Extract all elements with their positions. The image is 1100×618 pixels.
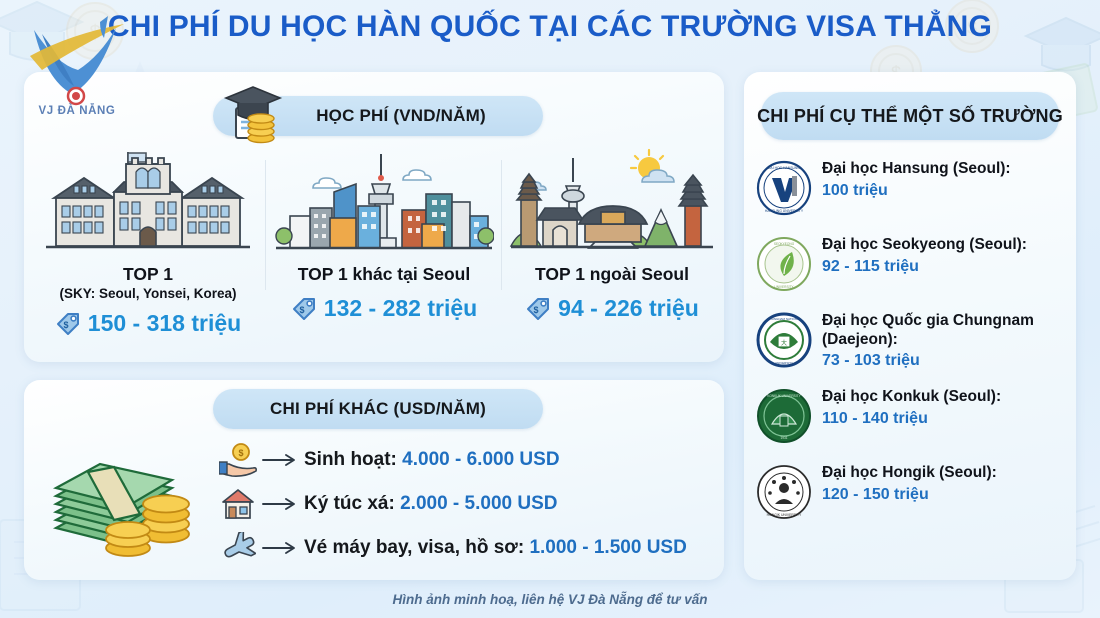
svg-text:ĐẠI HỌC HANSUNG: ĐẠI HỌC HANSUNG — [768, 166, 800, 170]
arrow-right-icon — [258, 541, 304, 555]
graduation-cap-book-coins-icon — [222, 84, 284, 146]
column-divider — [501, 160, 502, 290]
footer-note: Hình ảnh minh hoạ, liên hệ VJ Đà Nẵng để… — [0, 592, 1100, 607]
school-name: Đại học Seokyeong (Seoul): — [822, 236, 1027, 255]
house-icon — [218, 486, 258, 522]
tuition-column-name: TOP 1 — [123, 264, 173, 285]
school-name: Đại học Quốc gia Chungnam (Daejeon): — [822, 312, 1066, 349]
cash-and-coins-illustration — [44, 436, 214, 566]
arrow-right-icon — [258, 453, 304, 467]
korea-landmarks-illustration — [509, 146, 715, 258]
other-costs-header-label: CHI PHÍ KHÁC (USD/NĂM) — [270, 399, 486, 419]
konkuk-university-seal-icon: KONKUK UNIVERSITY 1931 — [756, 388, 812, 444]
svg-text:SEOKYEONG: SEOKYEONG — [774, 242, 795, 246]
page-title-text: CHI PHÍ DU HỌC HÀN QUỐC TẠI CÁC TRƯỜNG V… — [108, 10, 992, 44]
tuition-price-row: $ 132 - 282 triệu — [291, 295, 477, 322]
school-name: Đại học Hansung (Seoul): — [822, 160, 1011, 179]
infographic-canvas: $ $ $ — [0, 0, 1100, 618]
svg-text:HONGIK UNIVERSITY: HONGIK UNIVERSITY — [767, 513, 802, 517]
svg-text:CHUNGNAM NATIONAL: CHUNGNAM NATIONAL — [767, 317, 801, 321]
price-tag-icon: $ — [525, 296, 551, 322]
school-value: 110 - 140 triệu — [822, 410, 1001, 428]
school-row: 大 CHUNGNAM NATIONAL UNIVERSITY Đại học Q… — [756, 310, 1066, 376]
other-costs-list: $ Sinh hoạt: 4.000 - 6.000 USD — [218, 438, 718, 570]
tuition-header-label: HỌC PHÍ (VND/NĂM) — [316, 106, 486, 126]
cost-item-label: Sinh hoạt: — [304, 449, 397, 470]
arrow-right-icon — [258, 497, 304, 511]
schools-header-label: CHI PHÍ CỤ THỂ MỘT SỐ TRƯỜNG — [757, 106, 1063, 127]
seoul-skyline-illustration — [274, 146, 494, 258]
price-tag-icon: $ — [291, 296, 317, 322]
page-title: CHI PHÍ DU HỌC HÀN QUỐC TẠI CÁC TRƯỜNG V… — [0, 10, 1100, 44]
school-value: 100 triệu — [822, 182, 1011, 200]
other-costs-header-pill: CHI PHÍ KHÁC (USD/NĂM) — [213, 389, 543, 429]
cost-item-label: Ký túc xá: — [304, 493, 395, 514]
school-value: 92 - 115 triệu — [822, 258, 1027, 276]
tuition-price: 150 - 318 triệu — [88, 310, 241, 337]
schools-list: ĐẠI HỌC HANSUNG HANSUNG UNIVERSITY Đại h… — [756, 158, 1066, 538]
chungnam-university-seal-icon: 大 CHUNGNAM NATIONAL UNIVERSITY — [756, 312, 812, 368]
school-row: ĐẠI HỌC HANSUNG HANSUNG UNIVERSITY Đại h… — [756, 158, 1066, 224]
school-value: 73 - 103 triệu — [822, 352, 1066, 370]
cost-item-value: 1.000 - 1.500 USD — [529, 537, 686, 558]
svg-text:$: $ — [238, 448, 243, 458]
svg-text:UNIVERSITY: UNIVERSITY — [774, 285, 794, 289]
svg-text:KONKUK UNIVERSITY: KONKUK UNIVERSITY — [767, 394, 801, 398]
tuition-column-name: TOP 1 khác tại Seoul — [298, 264, 470, 285]
column-divider — [265, 160, 266, 290]
tuition-column-name: TOP 1 ngoài Seoul — [535, 264, 689, 285]
school-name: Đại học Konkuk (Seoul): — [822, 388, 1001, 407]
school-row: HONGIK UNIVERSITY Đại học Hongik (Seoul)… — [756, 462, 1066, 528]
school-name: Đại học Hongik (Seoul): — [822, 464, 997, 483]
svg-text:大: 大 — [781, 339, 787, 347]
cost-item-value: 4.000 - 6.000 USD — [402, 449, 559, 470]
tuition-column-outside-seoul: TOP 1 ngoài Seoul $ 94 - 226 triệu — [504, 146, 720, 356]
svg-text:$: $ — [63, 320, 68, 330]
seokyeong-university-seal-icon: SEOKYEONG UNIVERSITY — [756, 236, 812, 292]
tuition-price-row: $ 94 - 226 triệu — [525, 295, 699, 322]
tuition-price-row: $ 150 - 318 triệu — [55, 310, 241, 337]
cost-item-value: 2.000 - 5.000 USD — [400, 493, 557, 514]
hansung-university-seal-icon: ĐẠI HỌC HANSUNG HANSUNG UNIVERSITY — [756, 160, 812, 216]
school-value: 120 - 150 triệu — [822, 486, 997, 504]
hongik-university-seal-icon: HONGIK UNIVERSITY — [756, 464, 812, 520]
airplane-icon — [218, 530, 258, 566]
svg-text:$: $ — [534, 305, 539, 315]
vj-swoosh-logo-icon — [12, 14, 142, 106]
svg-text:$: $ — [299, 305, 304, 315]
cost-item-label: Vé máy bay, visa, hồ sơ: — [304, 537, 524, 558]
svg-text:1931: 1931 — [780, 436, 787, 440]
school-row: KONKUK UNIVERSITY 1931 Đại học Konkuk (S… — [756, 386, 1066, 452]
tuition-column-seoul: TOP 1 khác tại Seoul $ 132 - 282 triệu — [268, 146, 500, 356]
tuition-column-subtitle: (SKY: Seoul, Yonsei, Korea) — [59, 286, 236, 301]
svg-text:HANSUNG UNIVERSITY: HANSUNG UNIVERSITY — [765, 209, 804, 213]
brand-logo-label: VJ ĐÀ NẴNG — [12, 105, 142, 117]
brand-logo: VJ ĐÀ NẴNG — [12, 14, 142, 119]
university-building-illustration — [40, 146, 256, 258]
schools-header-pill: CHI PHÍ CỤ THỂ MỘT SỐ TRƯỜNG — [761, 92, 1059, 140]
cost-item: $ Sinh hoạt: 4.000 - 6.000 USD — [218, 438, 718, 482]
hand-coin-icon: $ — [218, 442, 258, 478]
price-tag-icon: $ — [55, 311, 81, 337]
cost-item: Ký túc xá: 2.000 - 5.000 USD — [218, 482, 718, 526]
tuition-column-top1: TOP 1 (SKY: Seoul, Yonsei, Korea) $ 150 … — [32, 146, 264, 356]
cost-item: Vé máy bay, visa, hồ sơ: 1.000 - 1.500 U… — [218, 526, 718, 570]
tuition-price: 132 - 282 triệu — [324, 295, 477, 322]
svg-text:UNIVERSITY: UNIVERSITY — [775, 361, 793, 365]
school-row: SEOKYEONG UNIVERSITY Đại học Seokyeong (… — [756, 234, 1066, 300]
tuition-price: 94 - 226 triệu — [558, 295, 699, 322]
